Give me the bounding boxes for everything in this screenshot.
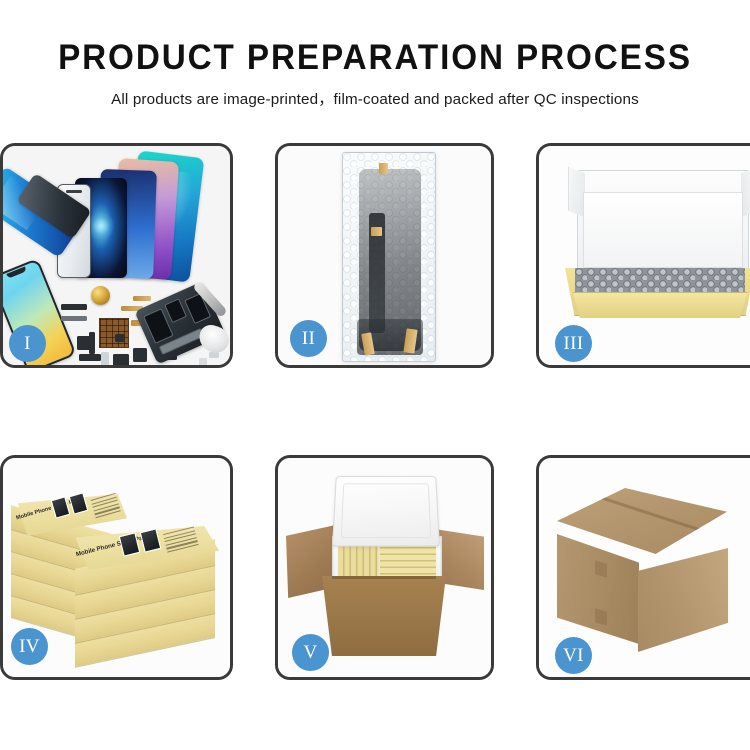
page-subtitle: All products are image-printed，film-coat…	[0, 87, 750, 109]
step-badge-2: II	[290, 320, 327, 357]
foam-insert	[583, 192, 743, 268]
tape-piece	[371, 227, 382, 236]
bubble-wrap-bag	[342, 152, 436, 362]
step-badge-5: V	[292, 634, 329, 671]
process-step-panel-6: VI	[536, 455, 750, 680]
spare-part	[199, 358, 207, 366]
foam-box-lid	[332, 476, 440, 547]
box-front-panel	[569, 292, 750, 318]
step-badge-6: VI	[555, 637, 592, 674]
spare-part	[61, 316, 87, 321]
process-step-panel-3: III	[536, 143, 750, 368]
tape-piece	[379, 163, 388, 174]
gold-coil-part-icon	[91, 286, 110, 305]
bubble-wrap-layer	[575, 268, 745, 296]
spare-part	[101, 352, 109, 366]
carton-body	[322, 576, 446, 656]
process-step-panel-5: V	[275, 455, 494, 680]
chip-grid-part-icon	[99, 318, 129, 348]
process-step-panel-4: Mobile Phone Spare Parts Mobile Phone Sp…	[0, 455, 233, 680]
step-badge-3: III	[555, 325, 592, 362]
carton-right-face	[638, 548, 728, 652]
process-step-grid: I II III	[0, 143, 750, 680]
carton-left-face	[557, 534, 639, 644]
page-header: PRODUCT PREPARATION PROCESS All products…	[0, 0, 750, 109]
spare-part	[133, 296, 151, 301]
spare-part	[89, 332, 95, 354]
step-badge-1: I	[9, 325, 46, 362]
spare-part	[61, 304, 87, 310]
spare-part	[209, 352, 219, 358]
process-step-panel-2: II	[275, 143, 494, 368]
page-title: PRODUCT PREPARATION PROCESS	[19, 38, 732, 78]
spare-part	[79, 354, 101, 361]
process-step-panel-1: I	[0, 143, 233, 368]
step-badge-4: IV	[11, 628, 48, 665]
spare-part	[133, 348, 147, 362]
spare-part	[113, 354, 129, 366]
packed-yellow-boxes	[338, 542, 436, 580]
spare-part	[115, 334, 125, 342]
